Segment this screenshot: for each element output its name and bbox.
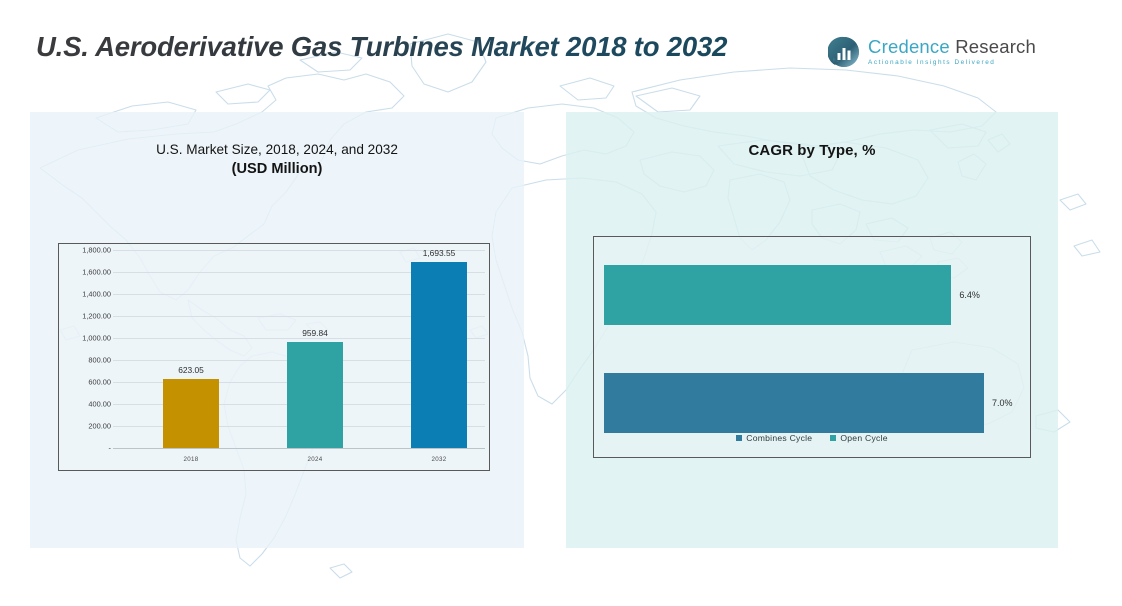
legend-label: Open Cycle	[840, 433, 887, 443]
brand-logo: Credence Research Actionable Insights De…	[828, 36, 1036, 68]
page-title: U.S. Aeroderivative Gas Turbines Market …	[36, 28, 836, 66]
y-axis-tick: 400.00	[88, 400, 111, 409]
y-axis-labels: 1,800.001,600.001,400.001,200.001,000.00…	[63, 250, 111, 448]
legend-label: Combines Cycle	[746, 433, 812, 443]
horizontal-bar[interactable]	[604, 373, 984, 433]
y-axis-tick: 800.00	[88, 356, 111, 365]
market-size-column-chart: 1,800.001,600.001,400.001,200.001,000.00…	[59, 244, 489, 470]
logo-name-credence: Credence	[868, 36, 950, 57]
horizontal-bar-row: 7.0%	[604, 373, 1020, 433]
column-value-label: 1,693.55	[423, 248, 456, 258]
logo-tagline: Actionable Insights Delivered	[868, 60, 1036, 66]
x-axis-tick: 2024	[253, 456, 377, 463]
column-slot: 959.84	[253, 250, 377, 448]
x-axis-tick: 2018	[129, 456, 253, 463]
legend-swatch-icon	[736, 435, 742, 441]
y-axis-tick: 200.00	[88, 422, 111, 431]
column-bar[interactable]	[287, 342, 343, 448]
cagr-chart-frame: 6.4%7.0% Combines CycleOpen Cycle	[593, 236, 1031, 458]
right-chart-panel: CAGR by Type, % 6.4%7.0% Combines CycleO…	[566, 112, 1058, 548]
logo-text: Credence Research Actionable Insights De…	[868, 38, 1036, 67]
horizontal-bar-value-label: 6.4%	[959, 290, 980, 300]
column-slot: 623.05	[129, 250, 253, 448]
y-axis-tick: 1,400.00	[82, 290, 111, 299]
column-bars-area: 623.05959.841,693.55	[113, 250, 485, 448]
cagr-bar-chart: 6.4%7.0% Combines CycleOpen Cycle	[594, 237, 1030, 457]
header: U.S. Aeroderivative Gas Turbines Market …	[0, 0, 1122, 112]
left-chart-heading-line1: U.S. Market Size, 2018, 2024, and 2032	[30, 140, 524, 159]
right-chart-heading: CAGR by Type, %	[566, 142, 1058, 159]
horizontal-bar[interactable]	[604, 265, 951, 325]
y-axis-tick: 1,000.00	[82, 334, 111, 343]
left-chart-heading: U.S. Market Size, 2018, 2024, and 2032 (…	[30, 140, 524, 181]
legend-item[interactable]: Combines Cycle	[736, 433, 812, 443]
market-size-chart-frame: 1,800.001,600.001,400.001,200.001,000.00…	[58, 243, 490, 471]
column-bar[interactable]	[411, 262, 467, 448]
logo-title: Credence Research	[868, 38, 1036, 57]
x-axis-labels: 201820242032	[113, 456, 485, 470]
left-chart-panel: U.S. Market Size, 2018, 2024, and 2032 (…	[30, 112, 524, 548]
y-axis-tick: 1,600.00	[82, 268, 111, 277]
y-axis-tick: 1,800.00	[82, 246, 111, 255]
column-value-label: 623.05	[178, 365, 204, 375]
x-axis-line	[113, 448, 485, 449]
logo-name-research: Research	[955, 36, 1036, 57]
horizontal-bar-value-label: 7.0%	[992, 398, 1013, 408]
y-axis-tick: -	[109, 444, 111, 453]
left-chart-heading-line2: (USD Million)	[30, 159, 524, 181]
bar-chart-circle-logo-icon	[828, 36, 860, 68]
cagr-legend: Combines CycleOpen Cycle	[594, 433, 1030, 443]
legend-swatch-icon	[830, 435, 836, 441]
column-slot: 1,693.55	[377, 250, 501, 448]
horizontal-bar-row: 6.4%	[604, 265, 1020, 325]
y-axis-tick: 1,200.00	[82, 312, 111, 321]
column-value-label: 959.84	[302, 328, 328, 338]
x-axis-tick: 2032	[377, 456, 501, 463]
y-axis-tick: 600.00	[88, 378, 111, 387]
legend-item[interactable]: Open Cycle	[830, 433, 887, 443]
column-bar[interactable]	[163, 379, 219, 448]
